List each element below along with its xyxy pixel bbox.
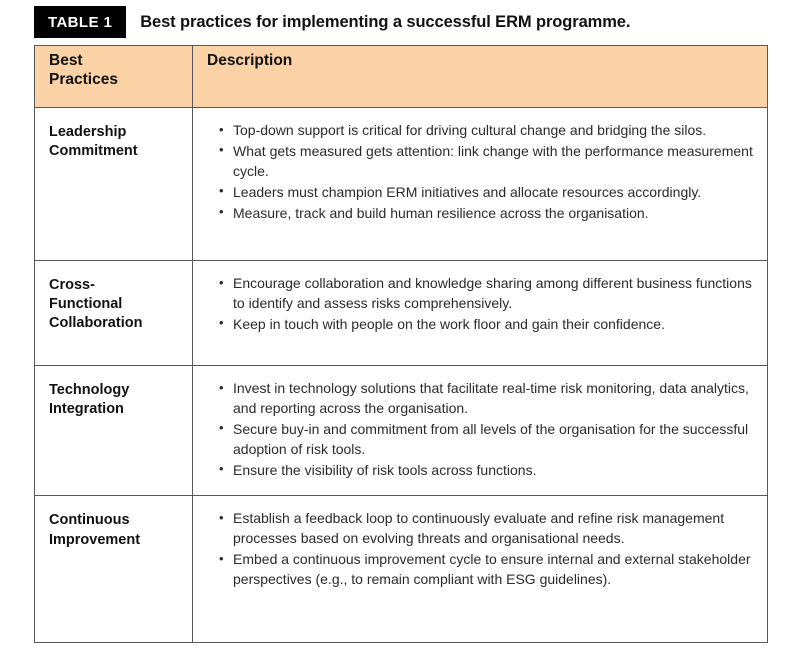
bullet-list: Encourage collaboration and knowledge sh… xyxy=(201,274,757,335)
table-caption-title: Best practices for implementing a succes… xyxy=(126,6,630,38)
practice-label-line2: Integration xyxy=(49,401,124,417)
practice-label-line1: Technology xyxy=(49,382,129,398)
practice-label-line1: Continuous xyxy=(49,512,130,528)
practice-cell-leadership-commitment: Leadership Commitment xyxy=(35,108,193,261)
table-row: Cross- Functional Collaboration Encourag… xyxy=(35,261,768,366)
column-header-best-practices-line2: Practices xyxy=(49,71,118,88)
table-row: Continuous Improvement Establish a feedb… xyxy=(35,496,768,643)
table-caption: TABLE 1 Best practices for implementing … xyxy=(34,6,767,38)
table-figure-page: TABLE 1 Best practices for implementing … xyxy=(0,0,805,655)
list-item: Encourage collaboration and knowledge sh… xyxy=(219,274,757,314)
practice-label-line2: Commitment xyxy=(49,143,138,159)
list-item: Leaders must champion ERM initiatives an… xyxy=(219,183,757,203)
list-item: Invest in technology solutions that faci… xyxy=(219,379,757,419)
description-cell-technology-integration: Invest in technology solutions that faci… xyxy=(193,366,768,496)
table-body: Leadership Commitment Top-down support i… xyxy=(35,108,768,643)
list-item: Keep in touch with people on the work fl… xyxy=(219,315,757,335)
bullet-list: Invest in technology solutions that faci… xyxy=(201,379,757,480)
table-header-row: Best Practices Description xyxy=(35,46,768,108)
practice-cell-cross-functional-collaboration: Cross- Functional Collaboration xyxy=(35,261,193,366)
list-item: What gets measured gets attention: link … xyxy=(219,142,757,182)
column-header-description: Description xyxy=(193,46,768,108)
practice-label-line3: Collaboration xyxy=(49,315,142,331)
practice-cell-technology-integration: Technology Integration xyxy=(35,366,193,496)
column-header-best-practices: Best Practices xyxy=(35,46,193,108)
practice-label-line1: Cross- xyxy=(49,277,95,293)
list-item: Establish a feedback loop to continuousl… xyxy=(219,509,757,549)
list-item: Measure, track and build human resilienc… xyxy=(219,204,757,224)
practice-label-line1: Leadership xyxy=(49,124,126,140)
table-number-badge: TABLE 1 xyxy=(34,6,126,38)
bullet-list: Establish a feedback loop to continuousl… xyxy=(201,509,757,590)
practice-cell-continuous-improvement: Continuous Improvement xyxy=(35,496,193,643)
practice-label-line2: Functional xyxy=(49,296,122,312)
list-item: Top-down support is critical for driving… xyxy=(219,121,757,141)
table-row: Leadership Commitment Top-down support i… xyxy=(35,108,768,261)
description-cell-cross-functional-collaboration: Encourage collaboration and knowledge sh… xyxy=(193,261,768,366)
column-header-best-practices-line1: Best xyxy=(49,52,83,69)
best-practices-table: Best Practices Description Leadership Co… xyxy=(34,45,768,643)
description-cell-leadership-commitment: Top-down support is critical for driving… xyxy=(193,108,768,261)
table-header: Best Practices Description xyxy=(35,46,768,108)
list-item: Secure buy-in and commitment from all le… xyxy=(219,420,757,460)
table-row: Technology Integration Invest in technol… xyxy=(35,366,768,496)
list-item: Ensure the visibility of risk tools acro… xyxy=(219,461,757,481)
description-cell-continuous-improvement: Establish a feedback loop to continuousl… xyxy=(193,496,768,643)
list-item: Embed a continuous improvement cycle to … xyxy=(219,550,757,590)
practice-label-line2: Improvement xyxy=(49,532,140,548)
bullet-list: Top-down support is critical for driving… xyxy=(201,121,757,223)
